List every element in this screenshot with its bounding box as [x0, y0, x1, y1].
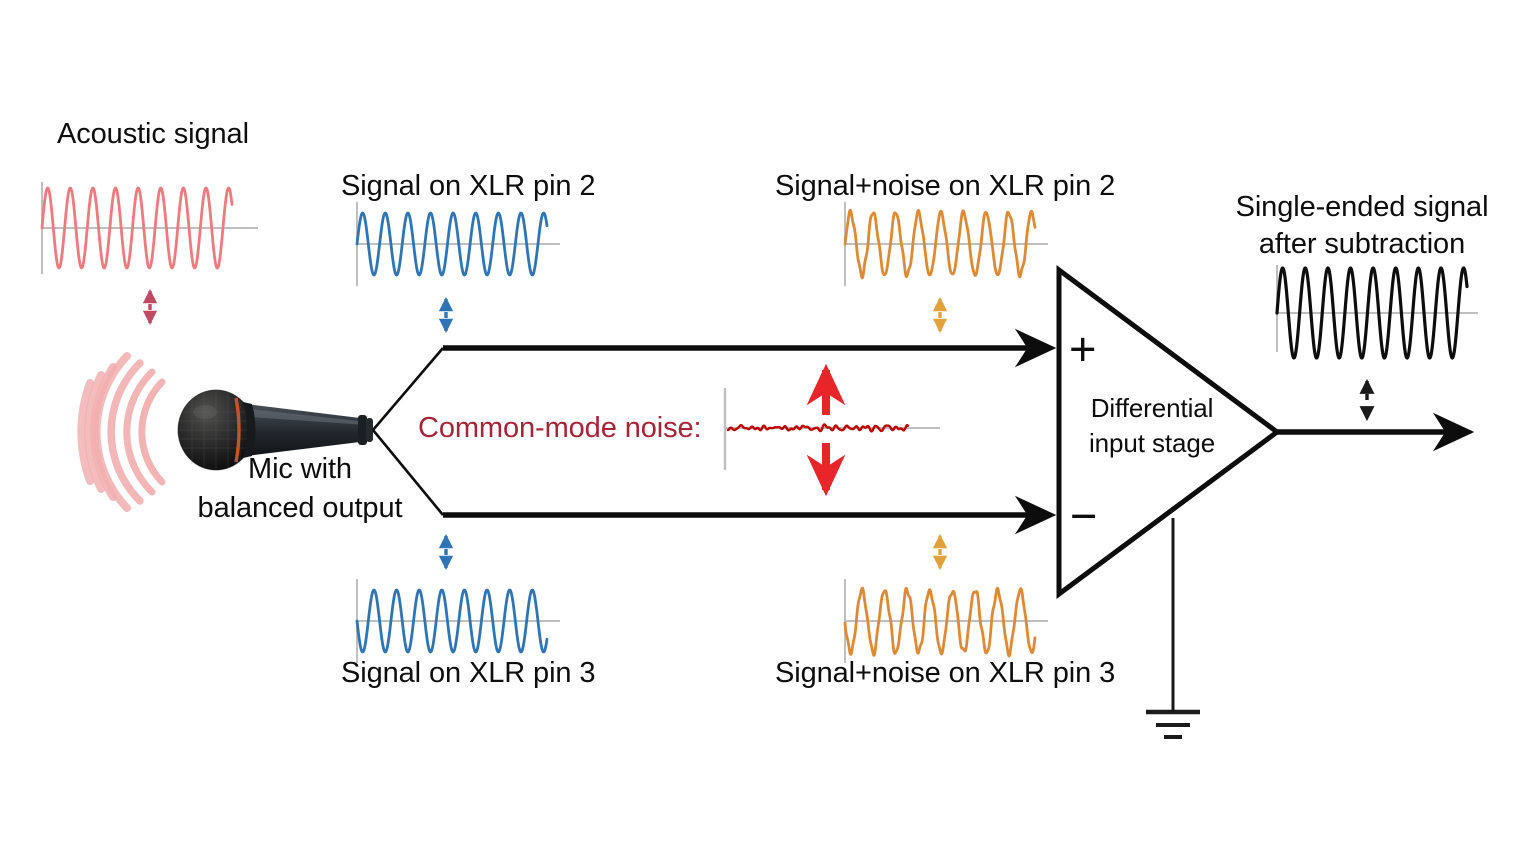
amplifier-label-line2: input stage: [1089, 428, 1215, 459]
xlr-pin3-noise-wave: [845, 588, 1035, 656]
signal-pin3-label: Signal on XLR pin 3: [341, 656, 595, 690]
signal-pin2-label: Signal on XLR pin 2: [341, 169, 595, 203]
mic-label-line2: balanced output: [198, 491, 403, 525]
signal-noise-pin2-label: Signal+noise on XLR pin 2: [775, 169, 1115, 203]
mic-label-line1: Mic with: [248, 452, 352, 486]
ground-symbol-icon: [1146, 518, 1200, 737]
acoustic-signal-label: Acoustic signal: [57, 117, 249, 151]
common-mode-noise-label: Common-mode noise:: [418, 411, 702, 445]
amplifier-minus-input-symbol: −: [1070, 492, 1097, 539]
signal-noise-pin3-label: Signal+noise on XLR pin 3: [775, 656, 1115, 690]
output-label-line2: after subtraction: [1259, 227, 1465, 261]
output-label-line1: Single-ended signal: [1236, 190, 1489, 224]
diagram-canvas: Acoustic signal Mic with balanced output…: [0, 0, 1536, 864]
amplifier-label-line1: Differential: [1091, 393, 1214, 424]
amplifier-plus-input-symbol: +: [1069, 325, 1096, 372]
acoustic-waves-icon: [81, 356, 162, 508]
